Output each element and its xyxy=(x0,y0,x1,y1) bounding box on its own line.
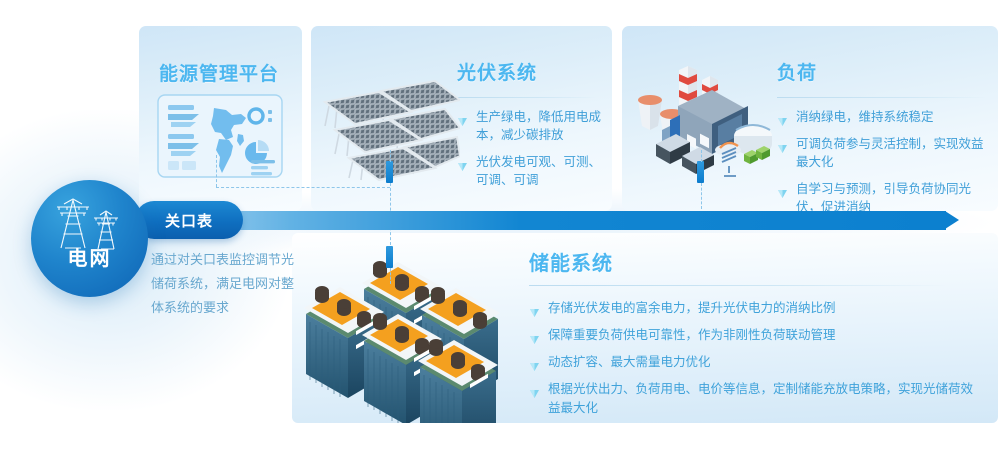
list-item-text: 消纳绿电，维持系统稳定 xyxy=(796,110,934,124)
grid-node-label: 电网 xyxy=(31,242,148,271)
title-divider xyxy=(529,285,949,286)
list-item-text: 存储光伏发电的富余电力，提升光伏电力的消纳比例 xyxy=(548,301,836,315)
list-item-text: 保障重要负荷供电可靠性，作为非刚性负荷联动管理 xyxy=(548,328,836,342)
connector-emp-vertical xyxy=(216,155,217,187)
gateway-meter-badge[interactable]: 关口表 xyxy=(135,201,243,239)
list-item: 消纳绿电，维持系统稳定 xyxy=(777,108,989,126)
card-title-energy-management: 能源管理平台 xyxy=(159,59,279,86)
connector-tick-load xyxy=(697,161,704,183)
diagram-canvas: 能源管理平台 xyxy=(0,0,1008,459)
gateway-meter-note: 通过对关口表监控调节光储荷系统，满足电网对整体系统的要求 xyxy=(151,248,303,320)
diamond-bullet-icon xyxy=(530,358,539,366)
list-item: 根据光伏出力、负荷用电、电价等信息，定制储能充放电策略，实现光储荷效益最大化 xyxy=(529,380,979,418)
list-item: 动态扩容、最大需量电力优化 xyxy=(529,353,979,372)
list-item-text: 生产绿电，降低用电成本，减少碳排放 xyxy=(476,110,601,142)
connector-emp-horizontal xyxy=(216,187,390,188)
diamond-bullet-icon xyxy=(458,113,467,121)
card-energy-storage[interactable]: 储能系统 xyxy=(292,233,998,423)
card-title-photovoltaic: 光伏系统 xyxy=(457,58,537,85)
title-divider xyxy=(777,97,987,98)
list-item: 存储光伏发电的富余电力，提升光伏电力的消纳比例 xyxy=(529,299,979,318)
diamond-bullet-icon xyxy=(530,304,539,312)
connector-load-down xyxy=(701,183,702,209)
connector-pv-up xyxy=(390,150,391,162)
list-item: 生产绿电，降低用电成本，减少碳排放 xyxy=(457,108,609,144)
battery-bank-icon xyxy=(302,253,517,428)
flow-arrow-head-icon xyxy=(945,211,959,229)
list-item-text: 动态扩容、最大需量电力优化 xyxy=(548,355,711,369)
gateway-meter-label: 关口表 xyxy=(135,210,243,231)
diamond-bullet-icon xyxy=(778,185,787,193)
diamond-bullet-icon xyxy=(530,385,539,393)
diamond-bullet-icon xyxy=(778,140,787,148)
connector-storage-down xyxy=(390,268,391,284)
list-item: 可调负荷参与灵活控制，实现效益最大化 xyxy=(777,135,989,171)
bullet-list-energy-storage: 存储光伏发电的富余电力，提升光伏电力的消纳比例 保障重要负荷供电可靠性，作为非刚… xyxy=(529,299,979,426)
bullet-list-load: 消纳绿电，维持系统稳定 可调负荷参与灵活控制，实现效益最大化 自学习与预测，引导… xyxy=(777,108,989,225)
diamond-bullet-icon xyxy=(778,113,787,121)
connector-tick-storage xyxy=(386,246,393,268)
card-title-load: 负荷 xyxy=(777,58,817,85)
grid-node[interactable]: 电网 xyxy=(31,180,148,297)
list-item-text: 根据光伏出力、负荷用电、电价等信息，定制储能充放电策略，实现光储荷效益最大化 xyxy=(548,382,973,415)
card-title-energy-storage: 储能系统 xyxy=(529,247,613,276)
list-item-text: 可调负荷参与灵活控制，实现效益最大化 xyxy=(796,137,984,169)
diamond-bullet-icon xyxy=(530,331,539,339)
connector-tick-photovoltaic xyxy=(386,161,393,183)
list-item: 保障重要负荷供电可靠性，作为非刚性负荷联动管理 xyxy=(529,326,979,345)
card-load[interactable]: 负荷 xyxy=(622,26,998,211)
diamond-bullet-icon xyxy=(458,158,467,166)
connector-load-up xyxy=(701,150,702,162)
list-item: 光伏发电可观、可测、可调、可调 xyxy=(457,153,609,189)
list-item-text: 自学习与预测，引导负荷协同光伏，促进消纳 xyxy=(796,182,971,214)
dashboard-world-map-icon xyxy=(157,94,283,183)
list-item-text: 光伏发电可观、可测、可调、可调 xyxy=(476,155,601,187)
card-energy-management[interactable]: 能源管理平台 xyxy=(139,26,302,211)
bullet-list-photovoltaic: 生产绿电，降低用电成本，减少碳排放 光伏发电可观、可测、可调、可调 xyxy=(457,108,609,198)
title-divider xyxy=(457,97,597,98)
card-photovoltaic[interactable]: 光伏系统 xyxy=(311,26,612,211)
